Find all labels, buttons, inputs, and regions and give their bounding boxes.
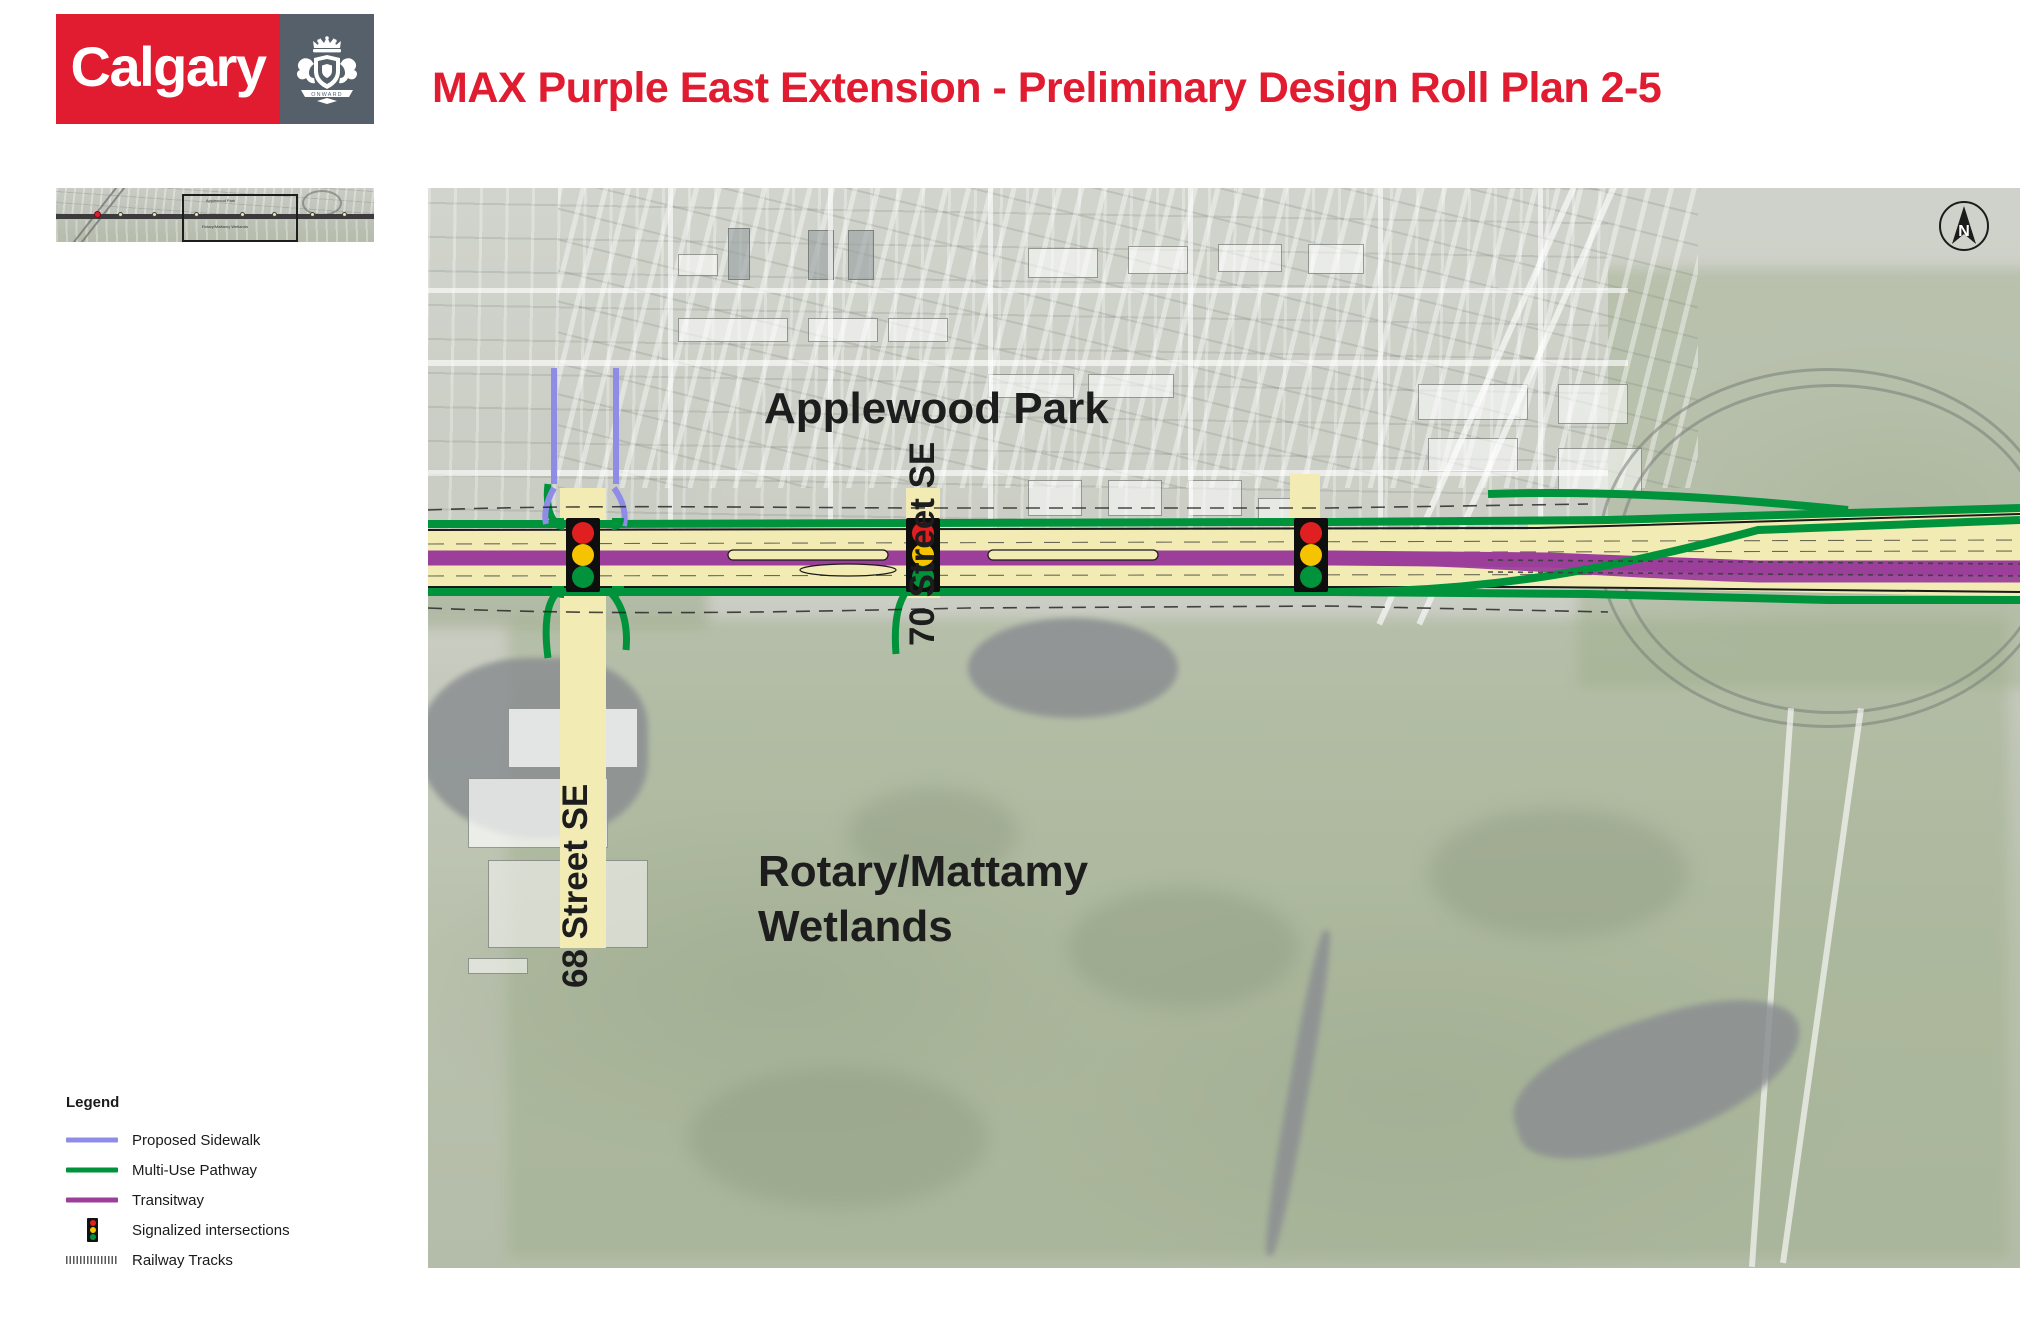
north-arrow-icon: N [1938,200,1990,252]
svg-text:ONWARD: ONWARD [311,92,343,98]
key-map-node [118,212,123,217]
legend-item-label: Proposed Sidewalk [132,1132,260,1149]
calgary-wordmark: Calgary [71,39,266,95]
line-swatch-icon [66,1125,118,1155]
north-arrow-label: N [1958,223,1970,240]
legend-item-transitway: Transitway [66,1185,366,1215]
roll-plan-page: Calgary [0,0,2040,1320]
key-map-label-applewood: Applewood Park [206,198,235,203]
line-swatch-icon [66,1155,118,1185]
legend-item-label: Railway Tracks [132,1252,233,1269]
design-corridor-overlay [428,188,2020,1268]
key-map-label-wetlands: Rotary/Mattamy Wetlands [202,224,272,229]
multi-use-pathway-east-link [1488,493,1848,510]
calgary-crest-block: ONWARD [280,14,374,124]
calgary-wordmark-block: Calgary [56,14,280,124]
signalized-intersection-east[interactable] [1294,518,1328,592]
key-map-node [94,211,101,218]
key-map-node [152,212,157,217]
legend-item-label: Multi-Use Pathway [132,1162,257,1179]
key-map-node [310,212,315,217]
multi-use-pathway-south [428,592,2020,600]
traffic-signal-icon [66,1215,118,1245]
map-label-line-2: Wetlands [758,899,1088,954]
calgary-brand-block: Calgary [56,14,374,124]
key-map-node [342,212,347,217]
legend: Legend Proposed Sidewalk Multi-Use Pathw… [66,1094,366,1275]
legend-item-label: Signalized intersections [132,1222,290,1239]
key-map-current-extent [182,194,298,242]
signalized-intersection-68-street-se[interactable] [566,518,600,592]
legend-item-railway-tracks: Railway Tracks [66,1245,366,1275]
map-label-70-street-se: 70 Street SE [903,442,943,646]
key-map-thumbnail[interactable]: Applewood Park Rotary/Mattamy Wetlands [56,188,374,242]
map-label-line-1: Rotary/Mattamy [758,844,1088,899]
multi-use-pathway-cross-68-south-east [610,592,626,650]
map-label-68-street-se: 68 Street SE [556,784,596,988]
legend-item-signalized-intersections: Signalized intersections [66,1215,366,1245]
multi-use-pathway-cross-68-south [546,592,558,658]
legend-item-label: Transitway [132,1192,204,1209]
legend-item-multi-use-pathway: Multi-Use Pathway [66,1155,366,1185]
line-swatch-icon [66,1185,118,1215]
calgary-coat-of-arms-icon: ONWARD [289,32,365,106]
map-label-applewood-park: Applewood Park [764,384,1109,434]
map-label-rotary-mattamy-wetlands: Rotary/Mattamy Wetlands [758,844,1088,954]
page-title: MAX Purple East Extension - Preliminary … [432,64,1932,113]
legend-item-proposed-sidewalk: Proposed Sidewalk [66,1125,366,1155]
railway-hatch-icon [66,1245,118,1275]
preliminary-design-roll-plan-map[interactable]: Applewood Park Rotary/Mattamy Wetlands 7… [428,188,2020,1268]
legend-title: Legend [66,1094,366,1111]
